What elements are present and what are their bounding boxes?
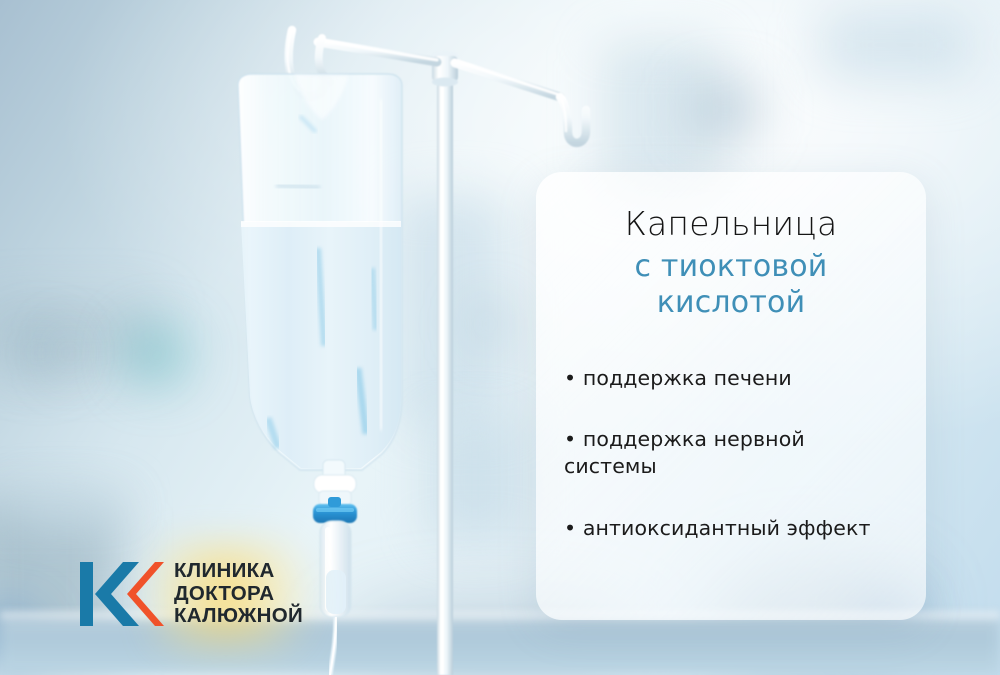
info-card: Капельница с тиоктовой кислотой • поддер…	[536, 172, 926, 620]
iv-fluid-bag	[238, 74, 402, 470]
card-title: Капельница	[558, 206, 904, 243]
card-subtitle: с тиоктовой кислотой	[558, 249, 904, 321]
logo-line-3: КАЛЮЖНОЙ	[174, 605, 303, 628]
list-item: • поддержка нервной системы	[558, 426, 904, 481]
bullet-glyph: •	[564, 366, 576, 390]
clinic-logo-text: КЛИНИКА ДОКТОРА КАЛЮЖНОЙ	[174, 560, 303, 629]
list-item-label: антиоксидантный эффект	[583, 516, 871, 540]
double-k-chevron-icon	[78, 558, 164, 630]
bullet-glyph: •	[564, 516, 576, 540]
list-item-label: поддержка нервной системы	[564, 427, 805, 478]
logo-line-2: ДОКТОРА	[174, 583, 303, 606]
list-item: • поддержка печени	[558, 365, 904, 392]
bullet-glyph: •	[564, 427, 576, 451]
benefits-list: • поддержка печени • поддержка нервной с…	[558, 365, 904, 542]
list-item-label: поддержка печени	[583, 366, 792, 390]
list-item: • антиоксидантный эффект	[558, 515, 904, 542]
logo-line-1: КЛИНИКА	[174, 560, 303, 583]
banner-canvas: Капельница с тиоктовой кислотой • поддер…	[0, 0, 1000, 675]
clinic-logo[interactable]: КЛИНИКА ДОКТОРА КАЛЮЖНОЙ	[78, 552, 318, 636]
